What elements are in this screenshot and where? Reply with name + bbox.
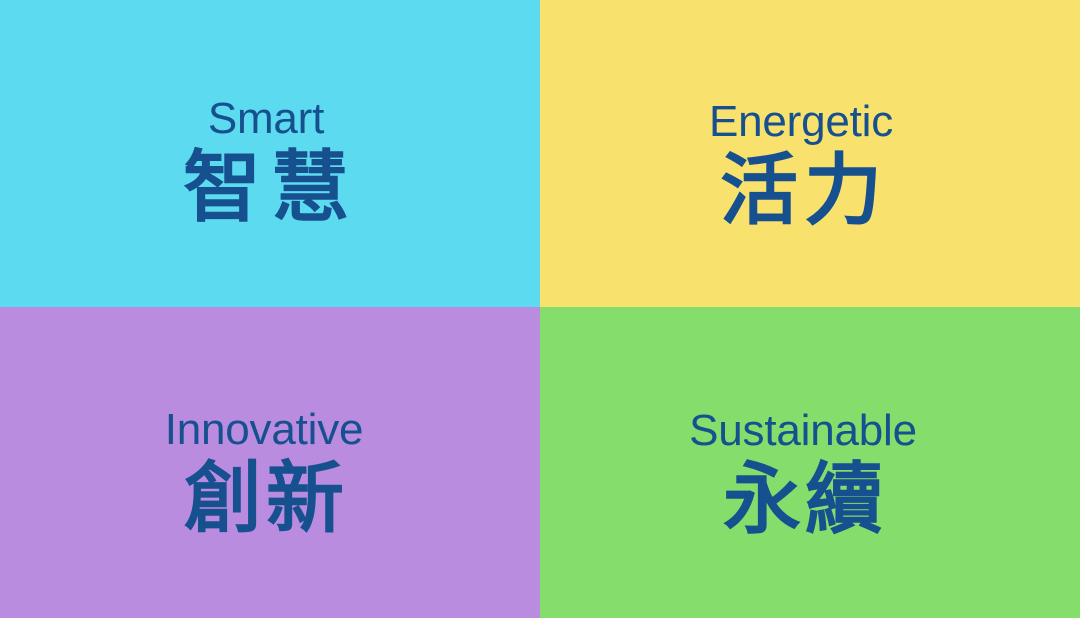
tile-label-zh-innovative: 創新: [180, 455, 348, 542]
tile-text-block-smart: Smart 智慧: [173, 96, 359, 232]
tile-label-en-sustainable: Sustainable: [689, 408, 917, 454]
tile-label-en-smart: Smart: [208, 96, 324, 142]
tile-text-block-innovative: Innovative 創新: [165, 407, 364, 543]
tile-label-zh-energetic: 活力: [714, 147, 888, 234]
value-tile-innovative[interactable]: Innovative 創新: [0, 307, 540, 618]
values-grid: Smart 智慧 Energetic 活力 Innovative 創新 Sust…: [0, 0, 1080, 618]
brand-values-board: Smart 智慧 Energetic 活力 Innovative 創新 Sust…: [0, 0, 1080, 618]
tile-label-en-innovative: Innovative: [165, 407, 364, 453]
tile-label-zh-smart: 智慧: [173, 144, 359, 231]
tile-label-en-energetic: Energetic: [709, 99, 893, 145]
tile-text-block-energetic: Energetic 活力: [709, 99, 893, 235]
value-tile-smart[interactable]: Smart 智慧: [0, 0, 540, 307]
tile-text-block-sustainable: Sustainable 永續: [689, 408, 917, 544]
value-tile-energetic[interactable]: Energetic 活力: [540, 0, 1080, 307]
value-tile-sustainable[interactable]: Sustainable 永續: [540, 307, 1080, 618]
tile-label-zh-sustainable: 永續: [719, 456, 887, 543]
